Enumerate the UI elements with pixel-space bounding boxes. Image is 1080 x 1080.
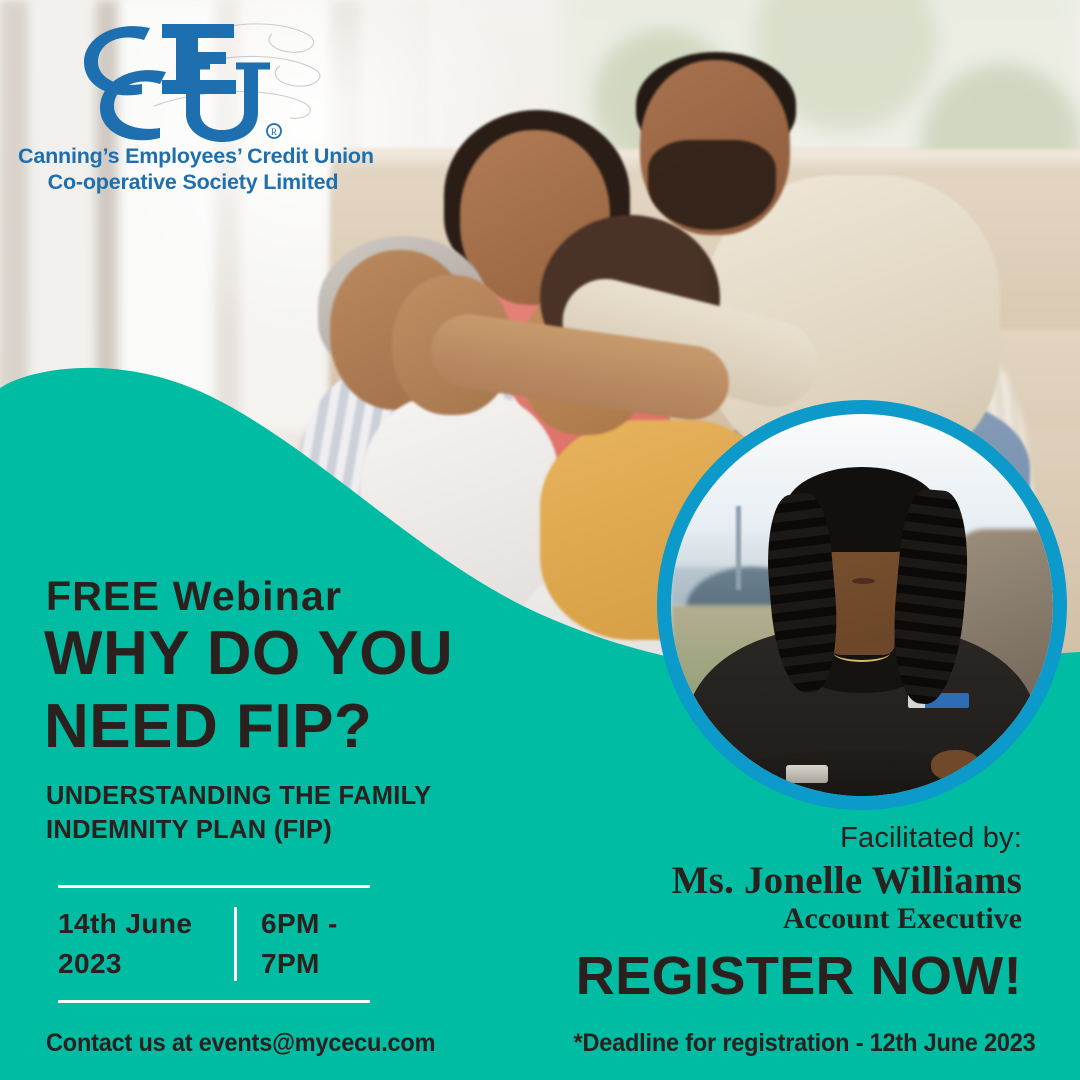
event-time-line-2: 7PM	[261, 944, 338, 984]
facilitator-name: Ms. Jonelle Williams	[672, 858, 1022, 903]
register-now-cta[interactable]: REGISTER NOW!	[576, 945, 1022, 1007]
svg-text:R: R	[271, 127, 277, 137]
registration-deadline-text: *Deadline for registration - 12th June 2…	[574, 1029, 1036, 1058]
headline-line-2: NEED FIP?	[44, 691, 453, 764]
webinar-flyer: R Canning’s Employees’ Credit Union Co-o…	[0, 0, 1080, 1080]
facilitator-role: Account Executive	[783, 902, 1022, 936]
event-date-line-1: 14th June	[58, 904, 234, 944]
event-time-line-1: 6PM -	[261, 904, 338, 944]
headline-line-1: WHY DO YOU	[44, 618, 453, 691]
logo-name-line1: Canning’s Employees’ Credit Union	[18, 144, 368, 170]
facilitator-avatar	[657, 400, 1067, 810]
subheadline-line-1: UNDERSTANDING THE FAMILY	[46, 780, 431, 814]
cecu-logo: R Canning’s Employees’ Credit Union Co-o…	[18, 14, 368, 196]
facilitated-by-label: Facilitated by:	[840, 822, 1022, 855]
subheadline: UNDERSTANDING THE FAMILY INDEMNITY PLAN …	[46, 780, 431, 847]
page-title: WHY DO YOU NEED FIP?	[44, 618, 453, 763]
eyebrow-free-webinar: FREE Webinar	[46, 573, 342, 620]
event-date: 14th June 2023	[58, 904, 234, 984]
subheadline-line-2: INDEMNITY PLAN (FIP)	[46, 814, 431, 848]
logo-name-line2: Co-operative Society Limited	[18, 170, 368, 196]
divider-vertical	[234, 907, 237, 981]
contact-email-text[interactable]: Contact us at events@mycecu.com	[46, 1029, 435, 1058]
event-time: 6PM - 7PM	[259, 904, 338, 984]
cecu-monogram-icon: R	[58, 14, 328, 144]
event-date-line-2: 2023	[58, 944, 234, 984]
event-datetime-panel: 14th June 2023 6PM - 7PM	[58, 885, 378, 1003]
divider-bottom	[58, 1000, 370, 1003]
